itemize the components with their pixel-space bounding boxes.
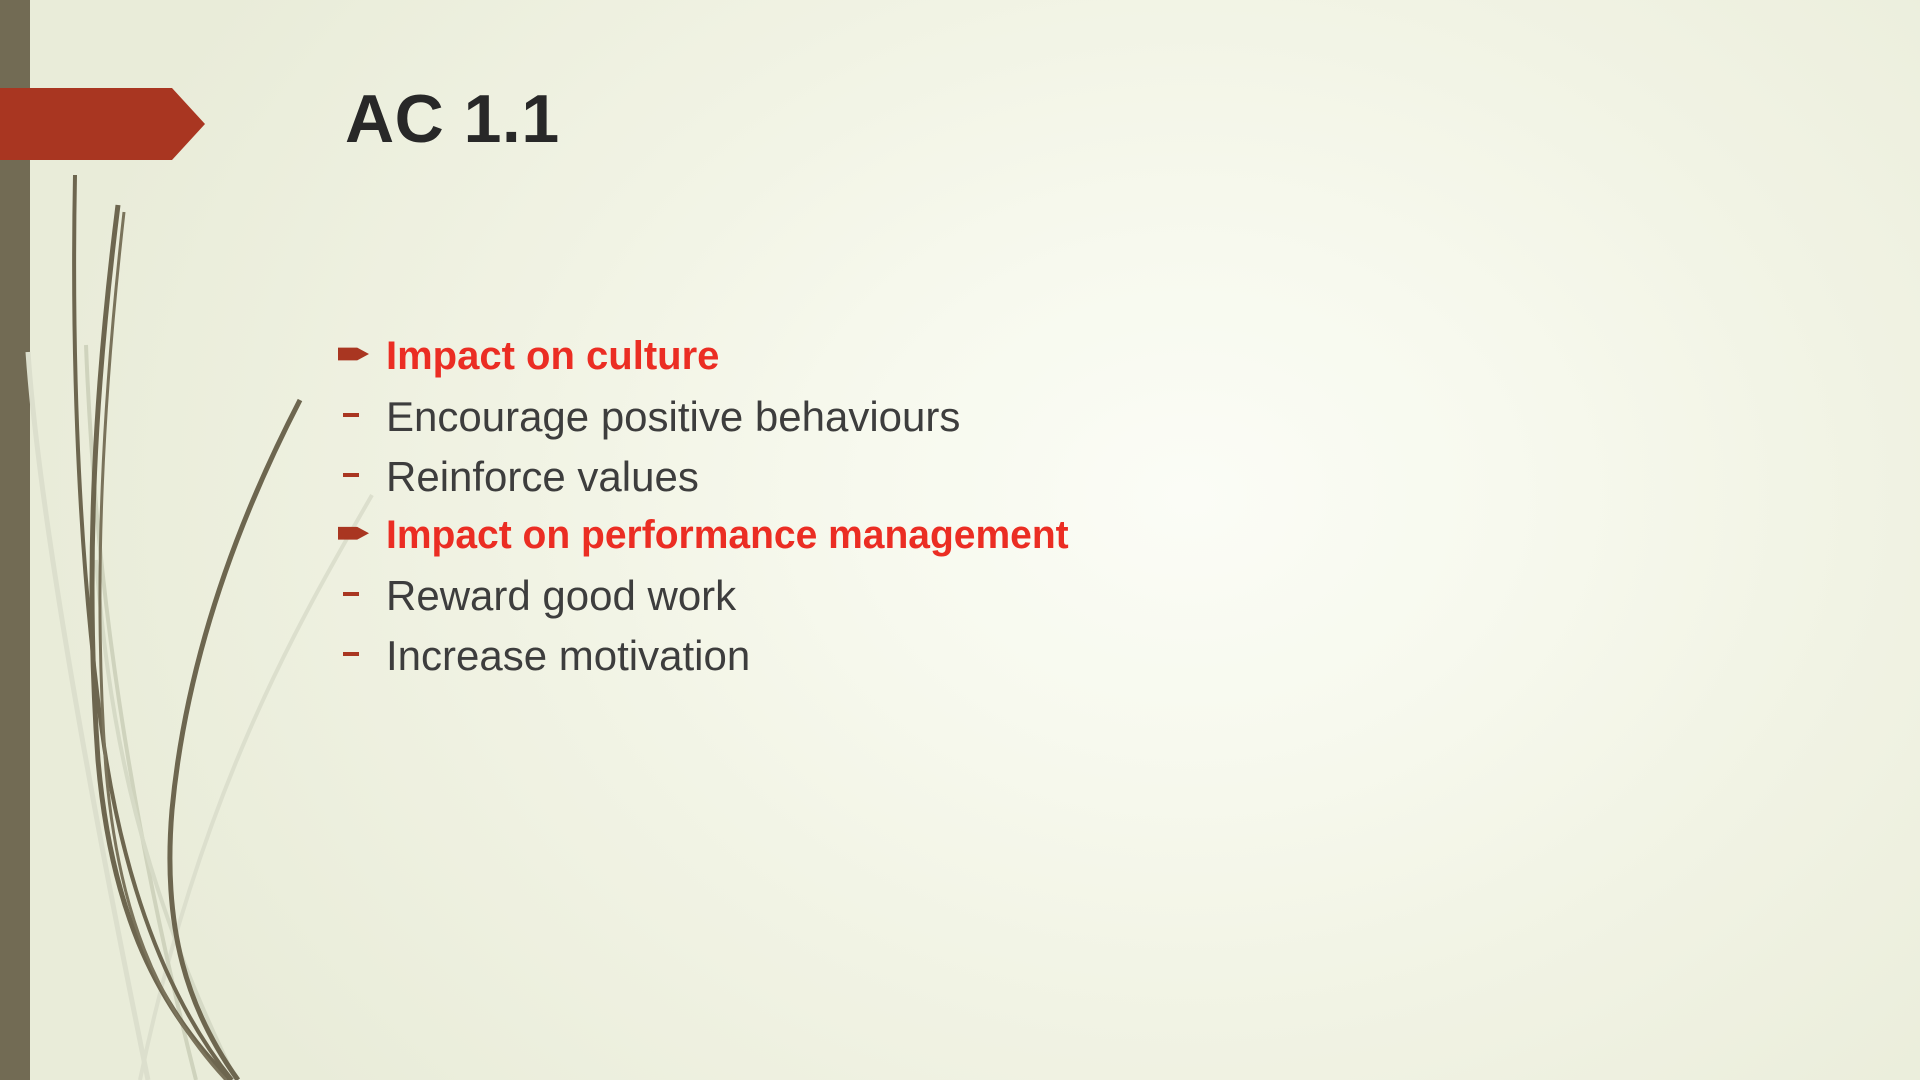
left-accent-bar xyxy=(0,0,30,1080)
list-item: Increase motivation xyxy=(338,630,1538,681)
list-item-label: Impact on culture xyxy=(386,332,719,381)
list-item: Impact on performance management xyxy=(338,511,1538,560)
dash-bullet-icon xyxy=(338,570,386,596)
presentation-slide: AC 1.1 Impact on culture Encourage posit… xyxy=(0,0,1920,1080)
list-item-label: Encourage positive behaviours xyxy=(386,391,960,442)
list-item-label: Increase motivation xyxy=(386,630,750,681)
dash-bullet-icon xyxy=(338,630,386,656)
list-item: Impact on culture xyxy=(338,332,1538,381)
list-item: Reward good work xyxy=(338,570,1538,621)
stem-dark-2 xyxy=(74,175,232,1080)
list-item-label: Impact on performance management xyxy=(386,511,1069,560)
stem-light-3 xyxy=(86,345,196,1080)
list-item-label: Reward good work xyxy=(386,570,736,621)
slide-body-list: Impact on culture Encourage positive beh… xyxy=(338,332,1538,691)
stem-light-4 xyxy=(96,560,236,1080)
stem-dark-3 xyxy=(170,400,300,1080)
list-item-label: Reinforce values xyxy=(386,451,699,502)
stem-dark-1 xyxy=(92,205,230,1080)
dash-bullet-icon xyxy=(338,451,386,477)
arrow-bullet-icon xyxy=(338,511,386,543)
title-chevron-banner xyxy=(0,88,205,160)
page-title: AC 1.1 xyxy=(345,84,560,155)
list-item: Encourage positive behaviours xyxy=(338,391,1538,442)
dash-bullet-icon xyxy=(338,391,386,417)
stem-light-2 xyxy=(28,352,148,1080)
list-item: Reinforce values xyxy=(338,451,1538,502)
arrow-bullet-icon xyxy=(338,332,386,364)
stem-dark-4 xyxy=(100,212,226,1080)
